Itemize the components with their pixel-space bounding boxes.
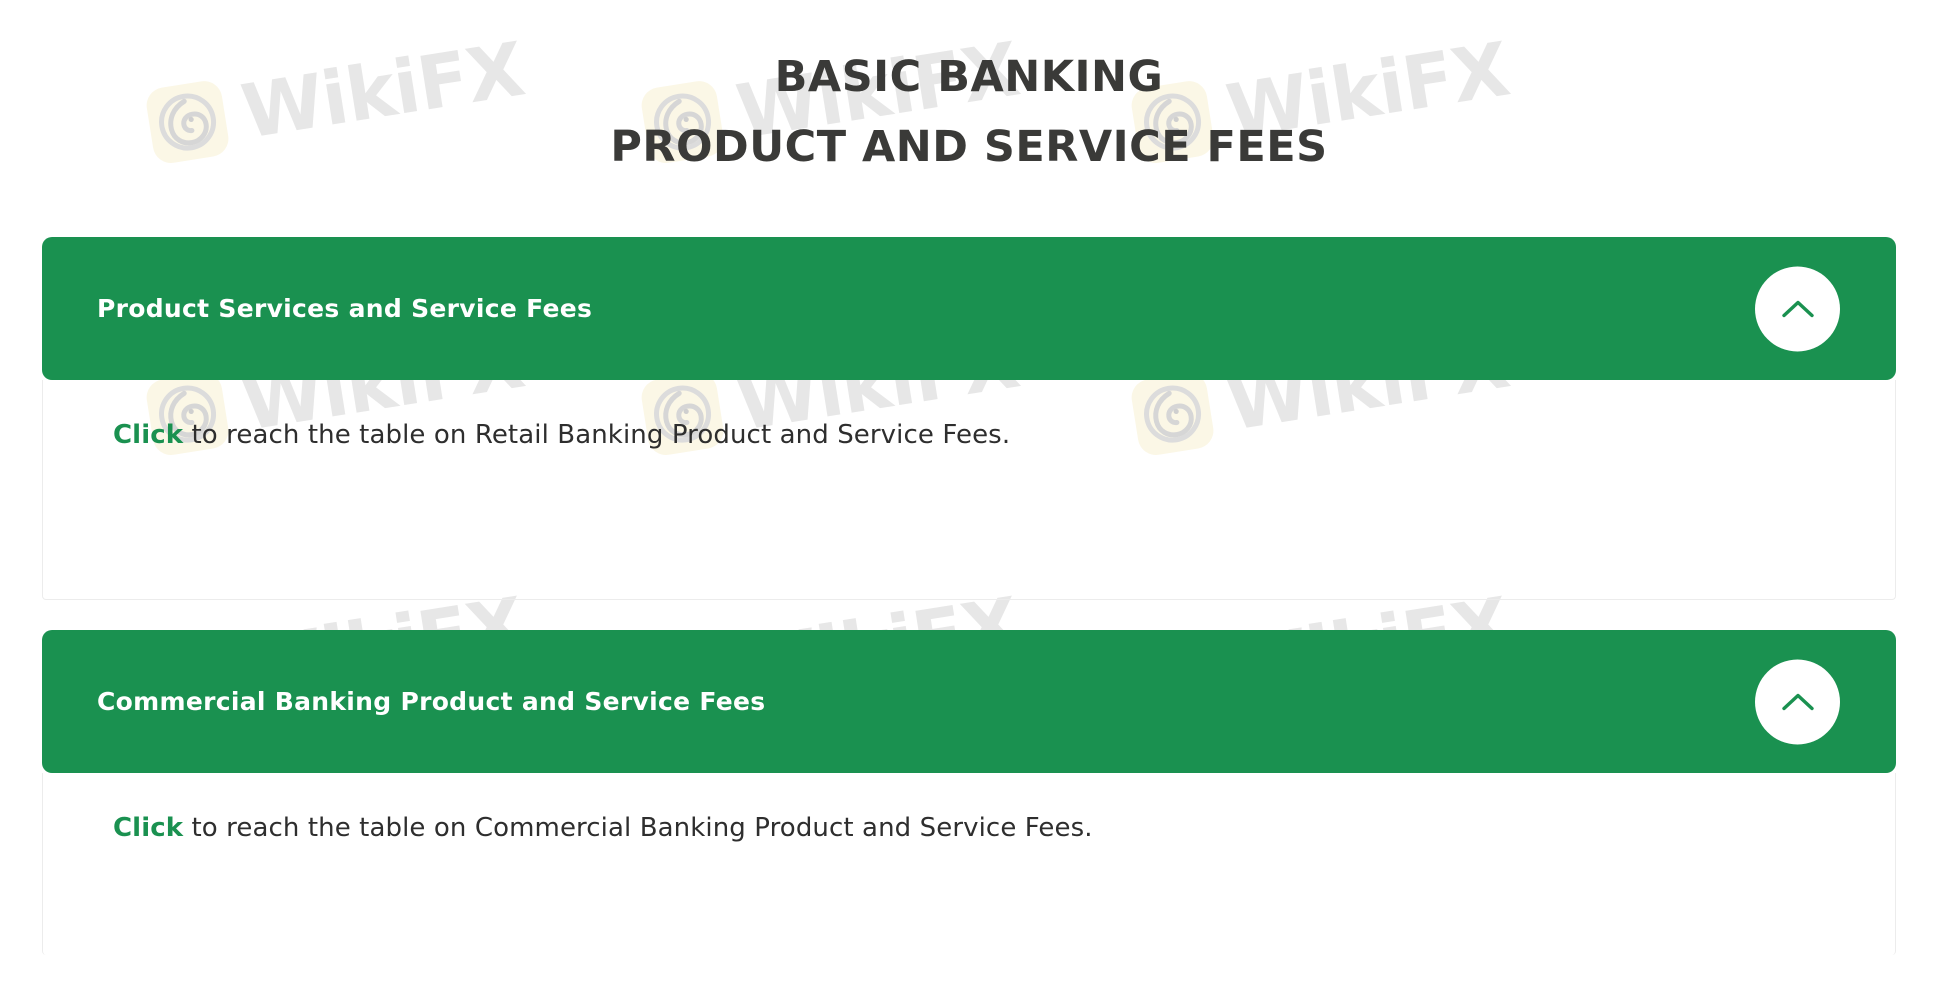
accordion-header-commercial-banking[interactable]: Commercial Banking Product and Service F… [42, 630, 1896, 773]
page-title-line-2: PRODUCT AND SERVICE FEES [0, 126, 1938, 169]
body-text-remainder: to reach the table on Retail Banking Pro… [183, 420, 1010, 450]
chevron-up-icon[interactable] [1755, 659, 1840, 744]
accordion-header-product-services[interactable]: Product Services and Service Fees [42, 237, 1896, 380]
accordion-header-label: Product Services and Service Fees [97, 294, 592, 323]
accordion-body-commercial-banking: Click to reach the table on Commercial B… [42, 773, 1896, 955]
body-paragraph: Click to reach the table on Retail Banki… [43, 418, 1895, 453]
accordion: Product Services and Service Fees Click … [42, 237, 1896, 985]
accordion-header-label: Commercial Banking Product and Service F… [97, 687, 765, 716]
accordion-body-product-services: Click to reach the table on Retail Banki… [42, 380, 1896, 600]
chevron-up-icon[interactable] [1755, 266, 1840, 351]
commercial-banking-fees-link[interactable]: Click [113, 813, 183, 843]
accordion-section-commercial-banking: Commercial Banking Product and Service F… [42, 630, 1896, 955]
retail-banking-fees-link[interactable]: Click [113, 420, 183, 450]
body-paragraph: Click to reach the table on Commercial B… [43, 811, 1895, 846]
body-text-remainder: to reach the table on Commercial Banking… [183, 813, 1093, 843]
page-title: BASIC BANKING PRODUCT AND SERVICE FEES [0, 56, 1938, 169]
page-title-line-1: BASIC BANKING [0, 56, 1938, 99]
accordion-section-product-services: Product Services and Service Fees Click … [42, 237, 1896, 600]
page-content: BASIC BANKING PRODUCT AND SERVICE FEES P… [0, 0, 1938, 932]
